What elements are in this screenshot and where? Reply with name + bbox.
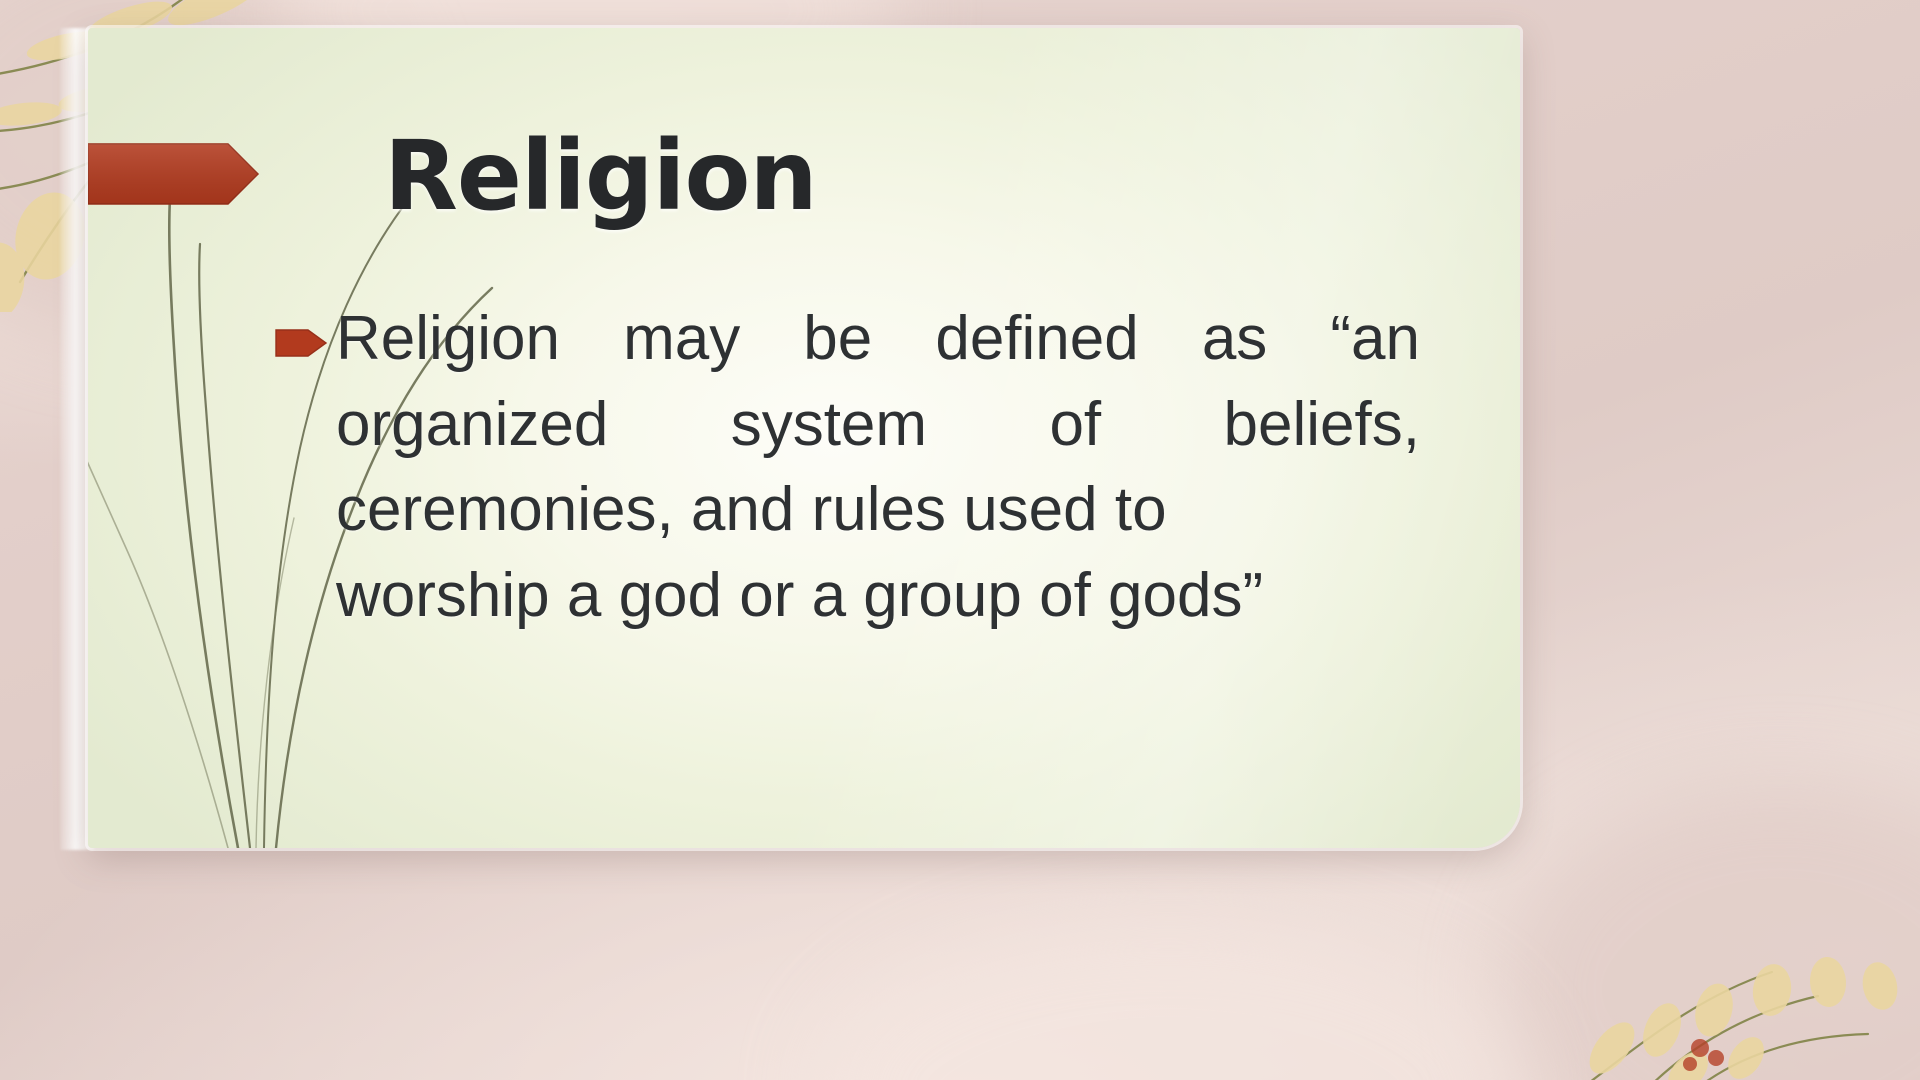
page-title: Religion [384, 120, 817, 232]
bullet-paragraph: Religion may be defined as “an organized… [274, 296, 1420, 638]
bullet-block: Religion may be defined as “an organized… [274, 296, 1420, 638]
red-arrow-bullet-icon [274, 324, 336, 362]
bullet-text-head: Religion may be defined as “an organized… [336, 304, 1420, 544]
backdrop-blob [820, 920, 1520, 1080]
slide-card: Religion Religion may be defined as “an … [88, 28, 1520, 848]
backdrop-blob [1500, 780, 1920, 1080]
bullet-text-tail: worship a god or a group of gods” [336, 553, 1420, 639]
presentation-slide-view: Religion Religion may be defined as “an … [0, 0, 1920, 1080]
red-arrow-banner-icon [88, 140, 260, 208]
